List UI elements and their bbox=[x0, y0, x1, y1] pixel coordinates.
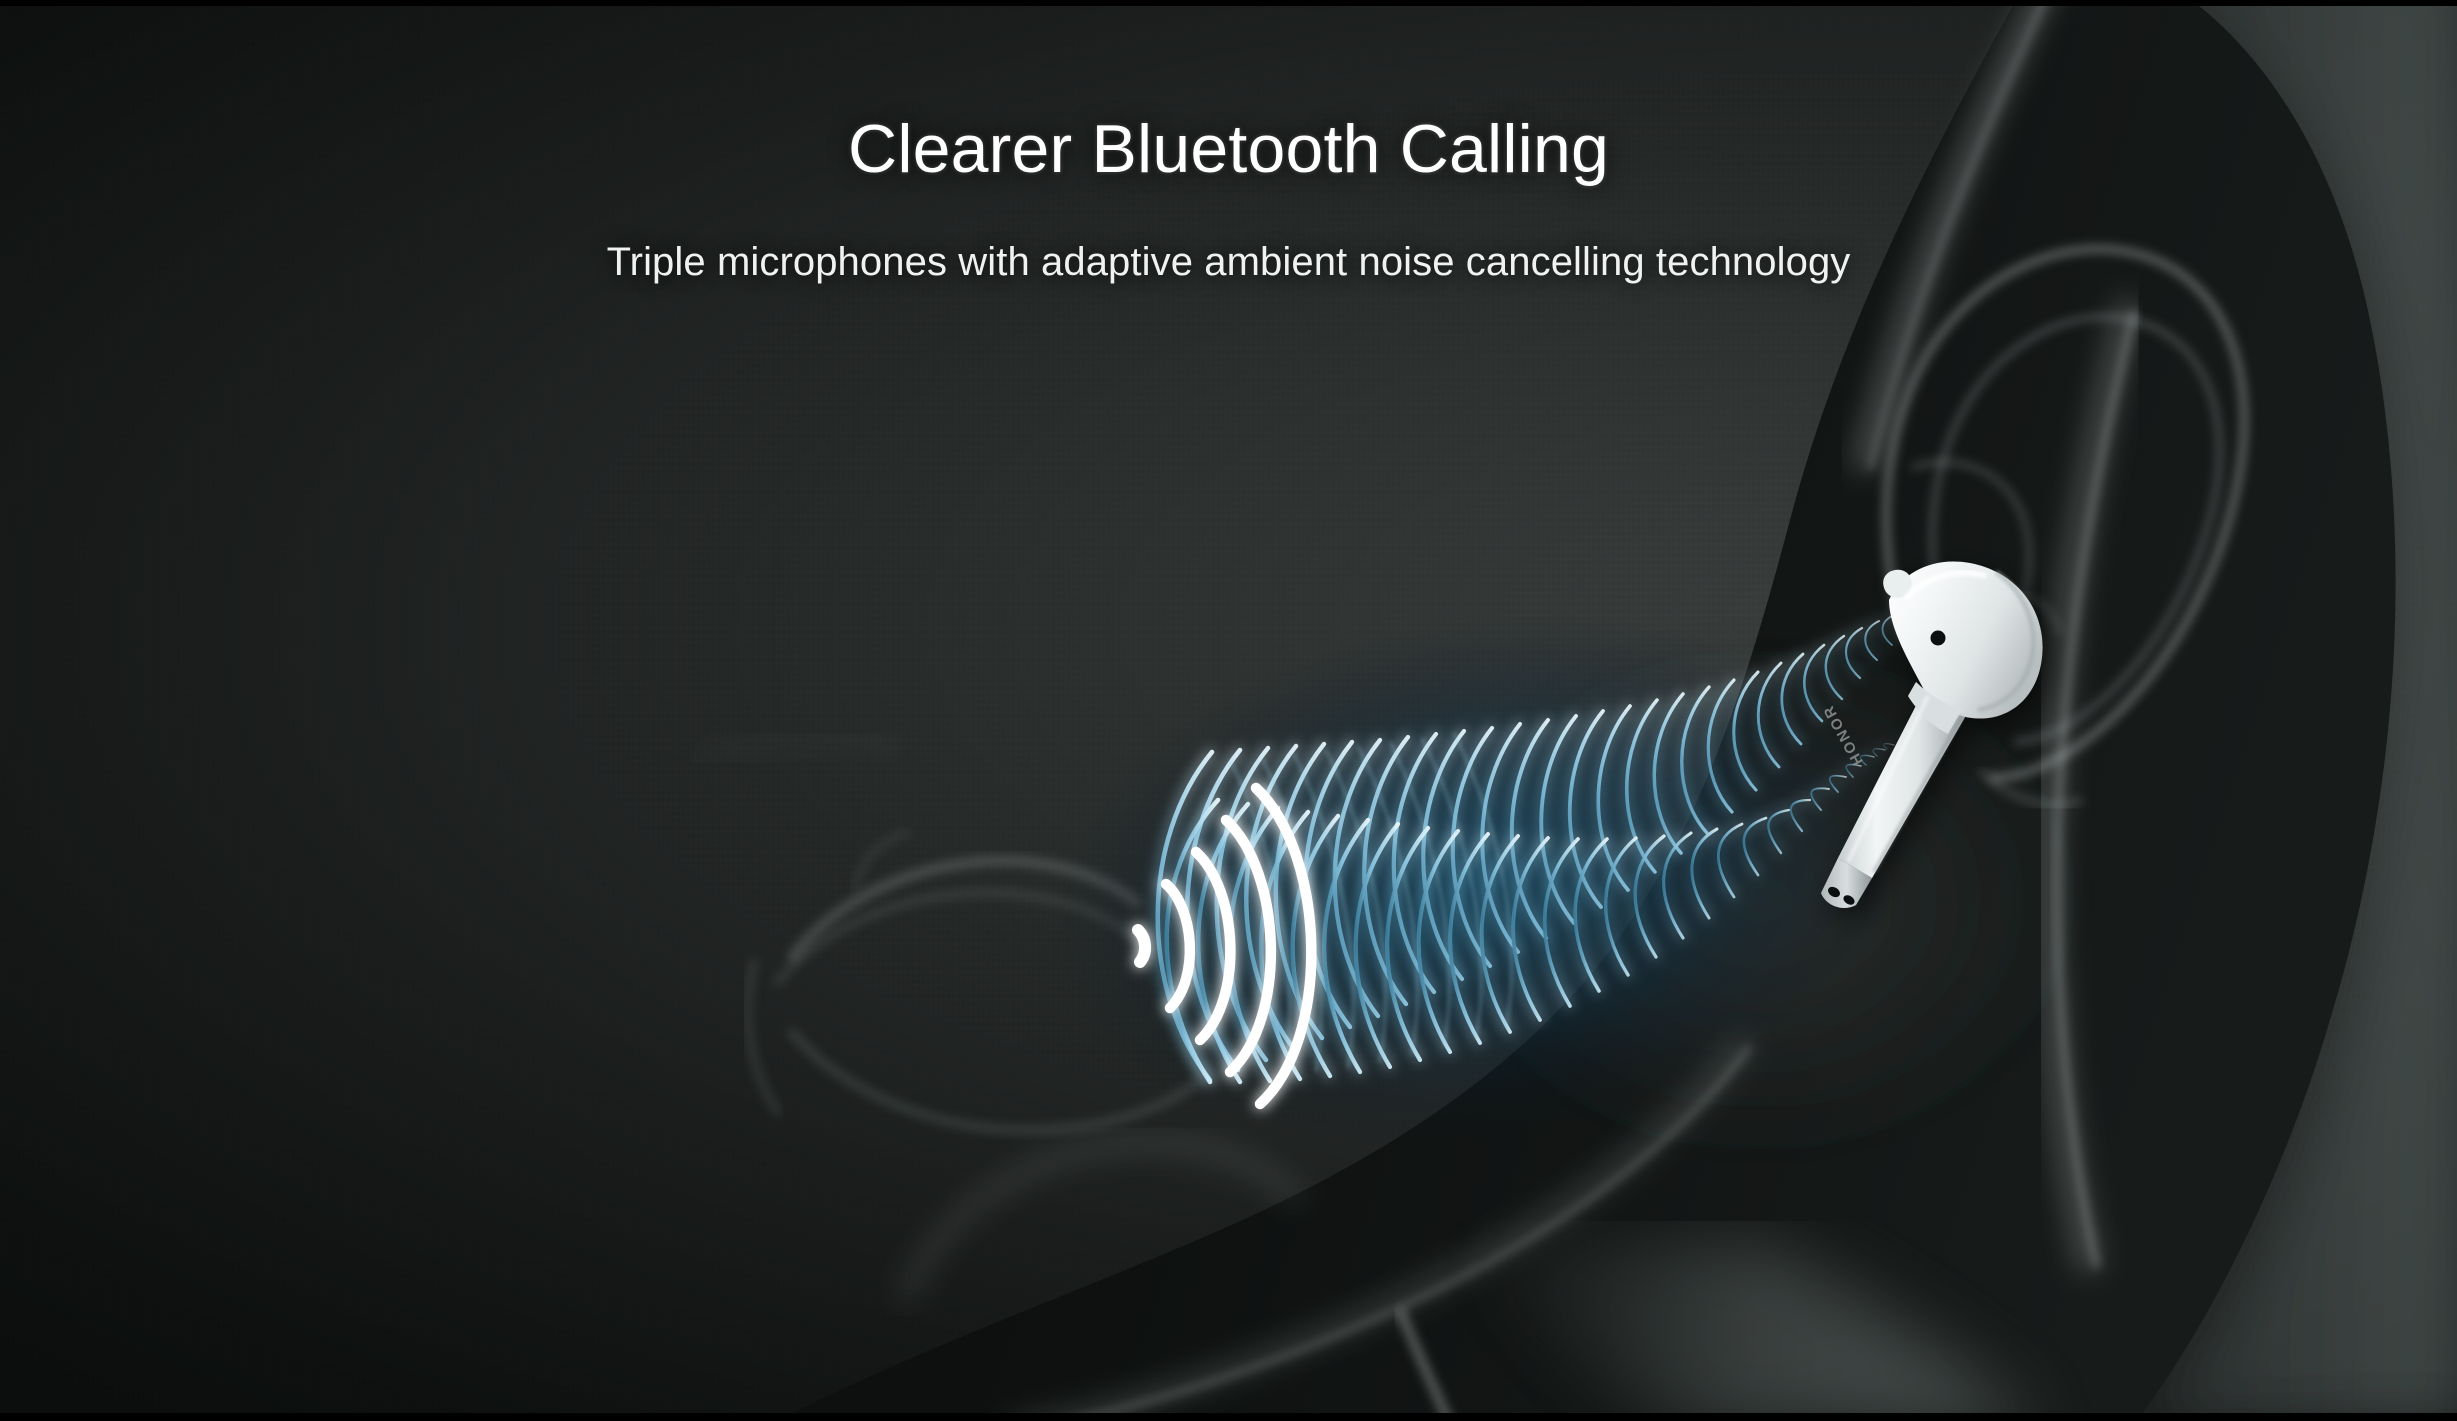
wireless-earbud: HONOR bbox=[0, 0, 2457, 1421]
slide-canvas: HONOR Clearer Bluetooth Calling Triple m… bbox=[0, 0, 2457, 1421]
earbud-body-group bbox=[1821, 561, 2043, 907]
letterbox-bar-bottom bbox=[0, 1413, 2457, 1421]
page-subtitle: Triple microphones with adaptive ambient… bbox=[0, 240, 2457, 285]
mic-port-bud bbox=[1931, 631, 1946, 646]
page-title: Clearer Bluetooth Calling bbox=[0, 110, 2457, 188]
letterbox-bar-top bbox=[0, 0, 2457, 6]
earbud-svg bbox=[0, 0, 2457, 1421]
